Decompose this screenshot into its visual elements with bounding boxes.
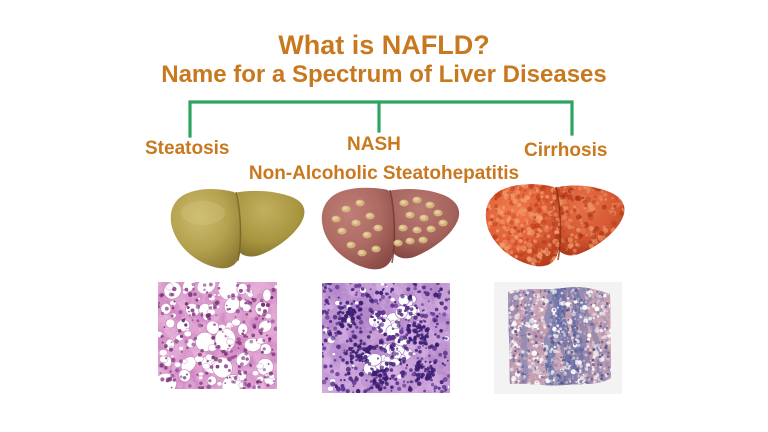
histology-canvas-nash [322, 283, 450, 393]
liver-left-lobe [171, 189, 242, 268]
liver-illustration-cirrhosis [482, 178, 630, 274]
histology-image-steatosis [158, 282, 277, 389]
histology-canvas-cirrhosis [494, 282, 622, 394]
nafld-spectrum-slide: What is NAFLD? Name for a Spectrum of Li… [0, 0, 768, 432]
histology-canvas-steatosis [158, 282, 277, 389]
stage-label-cirrhosis: Cirrhosis [524, 140, 607, 162]
histology-image-nash [322, 283, 450, 393]
histology-image-cirrhosis [494, 282, 622, 394]
bracket-outer-path [190, 102, 572, 136]
liver-illustration-nash [318, 183, 466, 276]
stage-label-steatosis: Steatosis [145, 138, 229, 160]
tissue-section [494, 282, 622, 394]
page-title: What is NAFLD? [0, 30, 768, 60]
liver-right-lobe [386, 189, 459, 258]
liver-right-lobe [232, 191, 304, 257]
stage-sublabel-nash: Non-Alcoholic Steatohepatitis [0, 163, 768, 185]
liver-illustration-steatosis [168, 183, 313, 275]
stage-label-nash: NASH [347, 134, 401, 156]
liver-highlight [181, 201, 225, 225]
page-subtitle: Name for a Spectrum of Liver Diseases [0, 61, 768, 88]
